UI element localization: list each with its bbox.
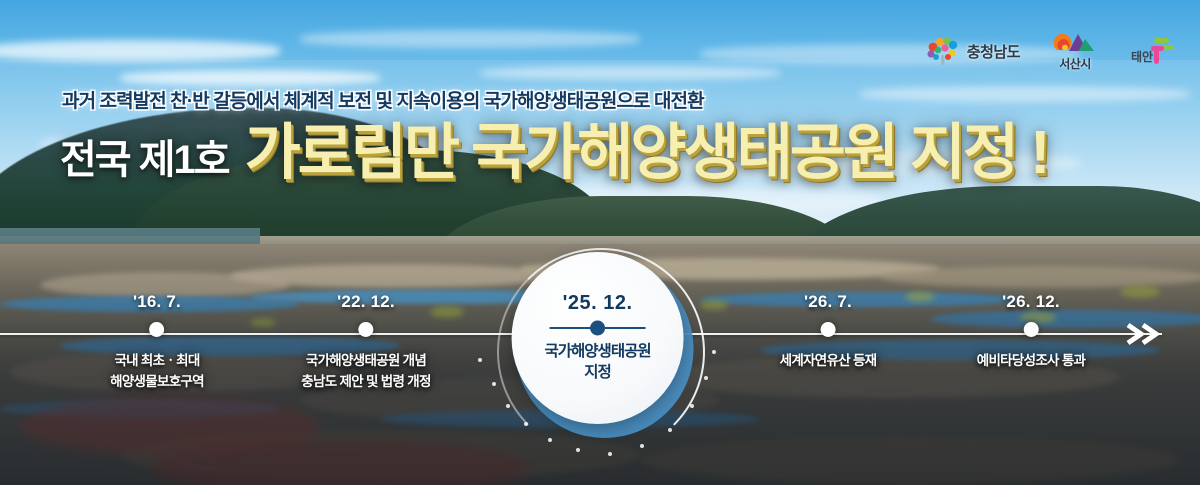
milestone-description-line1: 국내 최초ㆍ최대 <box>110 351 204 372</box>
double-chevron-right-icon <box>1124 320 1170 348</box>
milestone-description-line2: 해양생물보호구역 <box>110 372 204 393</box>
garorim-bay-marine-park-banner: 충청남도 서산시 태안 <box>0 0 1200 485</box>
milestone-dot <box>1024 322 1039 337</box>
highlight-date: '25. 12. <box>563 292 633 315</box>
pink-green-blocks-emblem-icon: 태안 <box>1130 36 1178 66</box>
milestone-dot <box>149 322 164 337</box>
timeline-milestone-2022-12[interactable]: '22. 12. 국가해양생태공원 개념 충남도 제안 및 법령 개정 <box>301 292 430 393</box>
timeline-milestone-2026-07[interactable]: '26. 7. 세계자연유산 등재 <box>780 292 877 372</box>
logo-label-chungcheongnam-do: 충청남도 <box>967 41 1020 62</box>
highlight-axis-segment <box>550 327 646 329</box>
milestone-date: '16. 7. <box>110 292 204 312</box>
banner-subtitle: 과거 조력발전 찬·반 갈등에서 체계적 보전 및 지속이용의 국가해양생태공원… <box>62 86 704 113</box>
milestone-description-line1: 세계자연유산 등재 <box>780 351 877 372</box>
timeline-milestone-2026-12[interactable]: '26. 12. 예비타당성조사 통과 <box>977 292 1086 372</box>
milestone-description: 국내 최초ㆍ최대 해양생물보호구역 <box>110 351 204 393</box>
highlight-circle: '25. 12. 국가해양생태공원 지정 <box>512 252 684 424</box>
milestone-description: 세계자연유산 등재 <box>780 351 877 372</box>
title-prefix: 전국 제1호 <box>60 127 229 185</box>
cloud <box>0 40 280 62</box>
milestone-date: '26. 7. <box>780 292 877 312</box>
highlight-description-line1: 국가해양생태공원 <box>545 342 651 363</box>
highlight-dot <box>590 321 605 336</box>
foam-speck <box>478 358 482 362</box>
banner-title: 전국 제1호 가로림만 국가해양생태공원 지정 ! <box>60 124 1047 185</box>
svg-text:태안: 태안 <box>1131 49 1153 64</box>
milestone-description: 국가해양생태공원 개념 충남도 제안 및 법령 개정 <box>301 351 430 393</box>
milestone-dot <box>359 322 374 337</box>
logo-seosan-si[interactable]: 서산시 <box>1054 30 1096 72</box>
colorful-tree-emblem-icon <box>926 36 960 66</box>
foam-speck <box>506 404 510 408</box>
logo-row: 충청남도 서산시 태안 <box>926 30 1178 72</box>
milestone-description-line2: 충남도 제안 및 법령 개정 <box>301 372 430 393</box>
highlight-description-line2: 지정 <box>545 363 651 384</box>
swirl-mountain-emblem-icon <box>1054 30 1096 54</box>
milestone-date: '22. 12. <box>301 292 430 312</box>
highlight-description: 국가해양생태공원 지정 <box>545 342 651 384</box>
logo-taean[interactable]: 태안 <box>1130 36 1178 66</box>
milestone-description-line1: 예비타당성조사 통과 <box>977 351 1086 372</box>
milestone-description-line1: 국가해양생태공원 개념 <box>301 351 430 372</box>
title-main: 가로림만 국가해양생태공원 지정 ! <box>245 124 1048 182</box>
foam-speck <box>492 382 496 386</box>
foam-speck <box>712 350 716 354</box>
milestone-dot <box>821 322 836 337</box>
cloud <box>300 30 640 48</box>
foam-speck <box>704 376 708 380</box>
timeline-milestone-2016-07[interactable]: '16. 7. 국내 최초ㆍ최대 해양생물보호구역 <box>110 292 204 393</box>
logo-label-seosan-si: 서산시 <box>1059 55 1091 72</box>
logo-chungcheongnam-do[interactable]: 충청남도 <box>926 36 1020 66</box>
milestone-description: 예비타당성조사 통과 <box>977 351 1086 372</box>
milestone-date: '26. 12. <box>977 292 1086 312</box>
